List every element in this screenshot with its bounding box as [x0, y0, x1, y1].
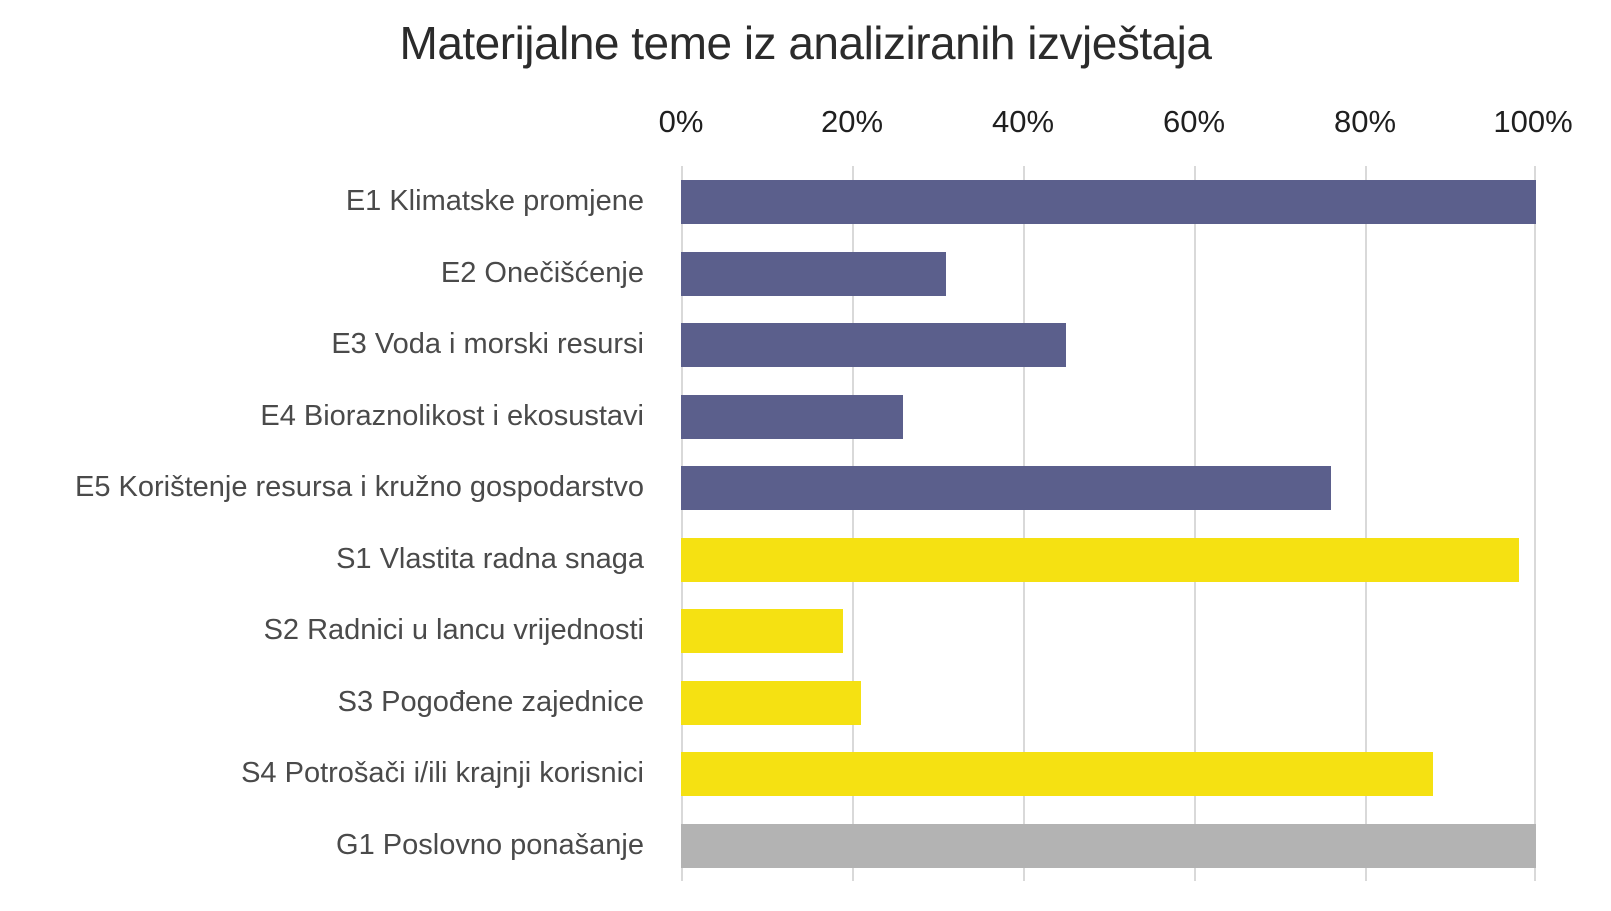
x-tick-label-100: 100%: [1493, 104, 1572, 140]
bar-e3: [681, 323, 1066, 367]
category-label-s1: S1 Vlastita radna snaga: [0, 524, 662, 596]
bar-row-e2: [681, 238, 1536, 310]
plot-area: [681, 166, 1536, 881]
bar-row-g1: [681, 810, 1536, 882]
x-tick-label-0: 0%: [659, 104, 704, 140]
category-label-e2: E2 Onečišćenje: [0, 238, 662, 310]
category-label-s3: S3 Pogođene zajednice: [0, 667, 662, 739]
chart-container: Materijalne teme iz analiziranih izvješt…: [0, 0, 1611, 911]
category-label-g1: G1 Poslovno ponašanje: [0, 810, 662, 882]
y-axis-category-labels: E1 Klimatske promjene E2 Onečišćenje E3 …: [0, 166, 662, 881]
bar-row-e5: [681, 452, 1536, 524]
category-label-e4: E4 Bioraznolikost i ekosustavi: [0, 381, 662, 453]
x-tick-label-40: 40%: [992, 104, 1054, 140]
category-label-e3: E3 Voda i morski resursi: [0, 309, 662, 381]
bar-s3: [681, 681, 861, 725]
bar-e1: [681, 180, 1536, 224]
bar-row-e3: [681, 309, 1536, 381]
bar-row-s3: [681, 667, 1536, 739]
category-label-e5: E5 Korištenje resursa i kružno gospodars…: [0, 452, 662, 524]
bar-s2: [681, 609, 843, 653]
bar-row-s4: [681, 738, 1536, 810]
bar-row-e1: [681, 166, 1536, 238]
x-tick-label-20: 20%: [821, 104, 883, 140]
bar-row-s2: [681, 595, 1536, 667]
x-tick-label-80: 80%: [1334, 104, 1396, 140]
category-label-e1: E1 Klimatske promjene: [0, 166, 662, 238]
bar-e5: [681, 466, 1331, 510]
chart-title: Materijalne teme iz analiziranih izvješt…: [0, 16, 1611, 70]
bar-s4: [681, 752, 1433, 796]
x-tick-label-60: 60%: [1163, 104, 1225, 140]
bar-e2: [681, 252, 946, 296]
bar-rows: [681, 166, 1536, 881]
bar-row-s1: [681, 524, 1536, 596]
x-axis-tick-labels: 0% 20% 40% 60% 80% 100%: [0, 104, 1611, 144]
category-label-s2: S2 Radnici u lancu vrijednosti: [0, 595, 662, 667]
bar-s1: [681, 538, 1519, 582]
bar-e4: [681, 395, 903, 439]
bar-row-e4: [681, 381, 1536, 453]
bar-g1: [681, 824, 1536, 868]
category-label-s4: S4 Potrošači i/ili krajnji korisnici: [0, 738, 662, 810]
